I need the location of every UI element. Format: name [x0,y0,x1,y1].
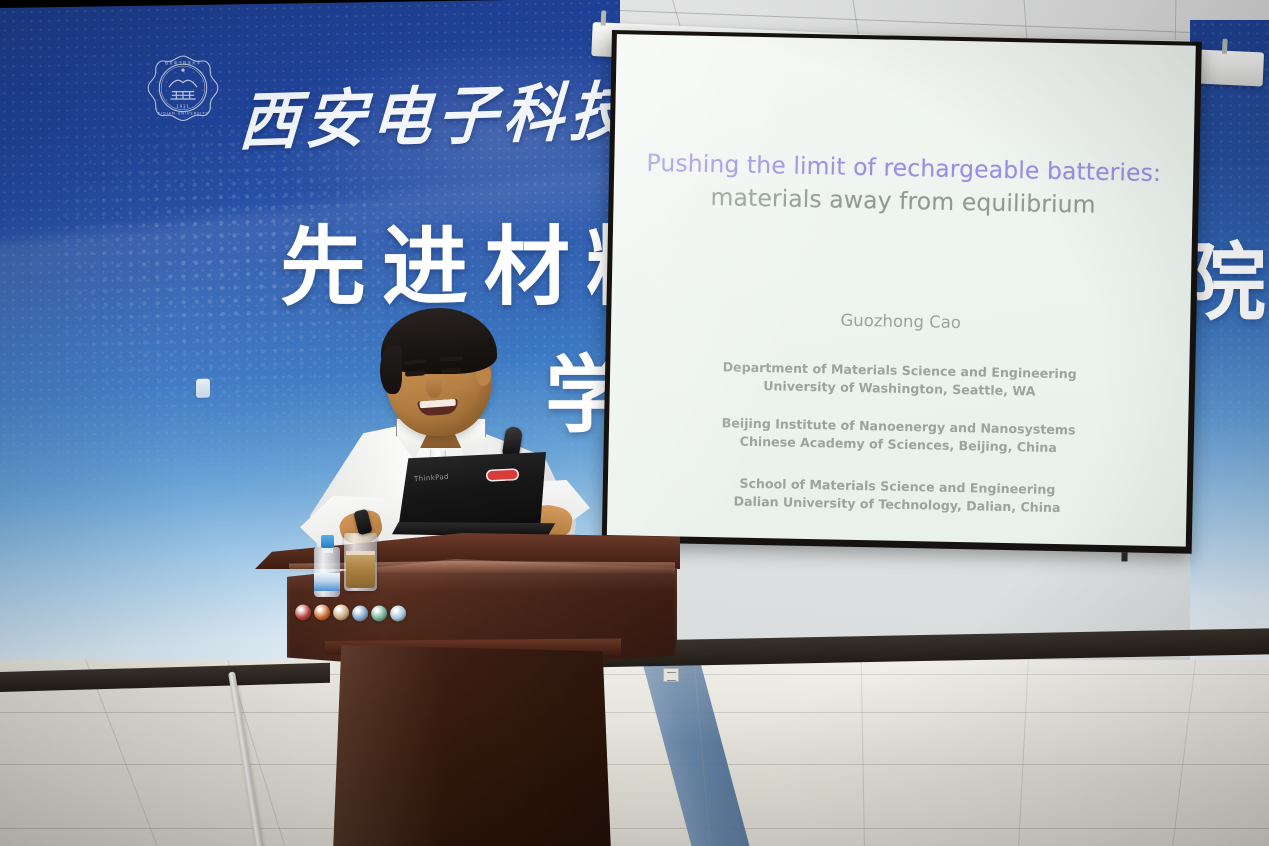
wall-fixture [196,379,210,398]
podium-sticker [333,604,350,621]
podium-sticker [390,605,407,622]
speaker-teeth [420,399,456,408]
slide-title-line2: materials away from equilibrium [710,183,1096,219]
seal-latin-text: XIDIAN UNIVERSITY [157,111,208,116]
speaker-hair-side [380,346,402,394]
slide-author: Guozhong Cao [611,306,1190,337]
cup-foam [346,551,375,555]
slide-title: Pushing the limit of rechargeable batter… [613,146,1193,224]
podium-column [333,645,611,846]
laptop-brand-mark: ThinkPad [414,473,449,483]
affiliation-3-line2: Dalian University of Technology, Dalian,… [733,494,1060,516]
projection-screen[interactable]: Pushing the limit of rechargeable batter… [602,30,1202,554]
water-bottle[interactable] [314,535,340,597]
podium-sticker [314,604,331,621]
bottle-cap [321,535,334,548]
banner-university-name: 西安电子科技大学 [237,56,620,163]
slide-affiliation-1: Department of Materials Science and Engi… [610,356,1190,404]
presentation-slide: Pushing the limit of rechargeable batter… [607,34,1196,547]
podium-sticker [352,605,369,622]
backdrop-banner-right-edge: 院 [1190,20,1269,660]
banner-heading-right-char: 院 [1190,216,1266,337]
laptop-logo-icon [486,468,520,482]
screen-weight-bar-foot-right [1121,552,1127,561]
slide-title-line1: Pushing the limit of rechargeable batter… [646,149,1161,187]
slide-affiliation-3: School of Materials Science and Engineer… [607,472,1187,520]
speaker-eye-right [441,367,461,373]
bottle-label [314,573,340,591]
laptop-lid: ThinkPad [398,452,546,530]
affiliation-1-line2: University of Washington, Seattle, WA [763,378,1035,398]
slide-affiliation-2: Beijing Institute of Nanoenergy and Nano… [609,412,1189,460]
projection-screen-surface: Pushing the limit of rechargeable batter… [607,34,1196,547]
affiliation-2-line2: Chinese Academy of Sciences, Beijing, Ch… [740,434,1057,455]
university-seal-icon: 1931 XIDIAN UNIVERSITY 西安电子科技大学 [146,53,220,127]
seal-year: 1931 [176,104,189,109]
beverage-cup[interactable] [344,533,377,591]
speaker-nose [426,378,442,398]
seal-cn-text: 西安电子科技大学 [165,60,202,65]
podium-sticker [295,604,312,621]
banner-right-halftone [1190,20,1269,660]
lecture-hall-photo: 1931 XIDIAN UNIVERSITY 西安电子科技大学 西安电子科技大学… [0,0,1269,846]
cup-liquid [346,554,375,588]
podium-sticker [371,605,388,622]
